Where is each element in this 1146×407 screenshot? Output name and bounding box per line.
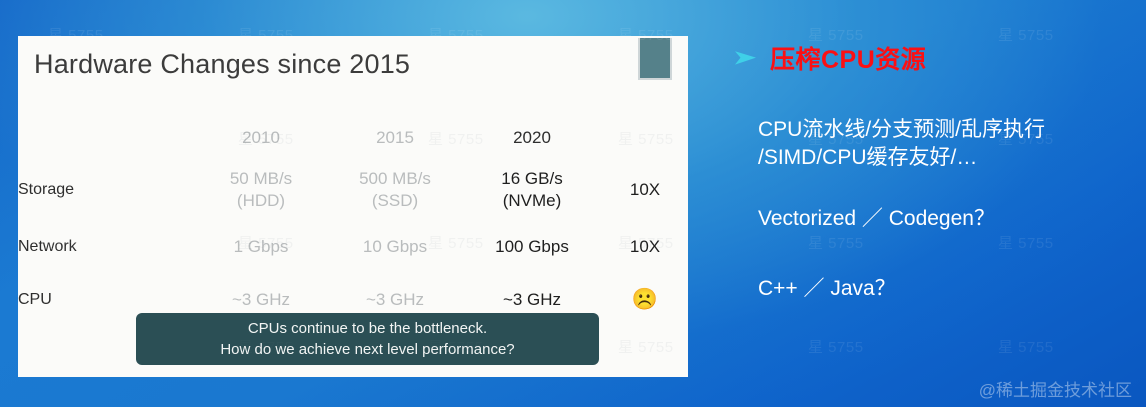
decorative-corner-block bbox=[638, 38, 672, 80]
row-label-storage: Storage bbox=[18, 160, 194, 220]
panel-paragraph-line-1: CPU流水线/分支预测/乱序执行 bbox=[758, 116, 1132, 144]
tiled-watermark: 星 5755 bbox=[808, 336, 864, 357]
cell-network-2010: 1 Gbps bbox=[194, 220, 328, 273]
cell-network-2015: 10 Gbps bbox=[328, 220, 462, 273]
cell-network-gain: 10X bbox=[602, 220, 688, 273]
cell-storage-2020: 16 GB/s (NVMe) bbox=[462, 160, 602, 220]
presentation-slide: Hardware Changes since 2015 2010 2015 20… bbox=[18, 36, 688, 377]
panel-heading-text: 压榨CPU资源 bbox=[770, 40, 926, 76]
column-header-gain bbox=[602, 116, 688, 160]
panel-paragraph: CPU流水线/分支预测/乱序执行 /SIMD/CPU缓存友好/… bbox=[728, 116, 1132, 172]
column-header-2020: 2020 bbox=[462, 116, 602, 160]
panel-heading: 压榨CPU资源 bbox=[734, 40, 1132, 76]
callout-line-1: CPUs continue to be the bottleneck. bbox=[248, 318, 487, 339]
column-header-2010: 2010 bbox=[194, 116, 328, 160]
cell-storage-gain: 10X bbox=[602, 160, 688, 220]
cell-subvalue: (NVMe) bbox=[462, 190, 602, 212]
page-title: Hardware Changes since 2015 bbox=[34, 49, 410, 80]
cell-storage-2015: 500 MB/s (SSD) bbox=[328, 160, 462, 220]
hardware-comparison-table: 2010 2015 2020 Storage 50 MB/s (HDD) 500… bbox=[18, 116, 688, 326]
column-header-category bbox=[18, 116, 194, 160]
site-watermark: @稀土掘金技术社区 bbox=[979, 376, 1132, 401]
panel-line-vectorized-codegen: Vectorized ／ Codegen？ bbox=[758, 205, 1132, 233]
cell-value: 500 MB/s bbox=[359, 169, 431, 188]
table-row: Storage 50 MB/s (HDD) 500 MB/s (SSD) 16 … bbox=[18, 160, 688, 220]
panel-paragraph-line-2: /SIMD/CPU缓存友好/… bbox=[758, 144, 1132, 172]
sad-face-icon: ☹️ bbox=[602, 273, 688, 326]
table-row: Network 1 Gbps 10 Gbps 100 Gbps 10X bbox=[18, 220, 688, 273]
annotation-panel: 压榨CPU资源 CPU流水线/分支预测/乱序执行 /SIMD/CPU缓存友好/…… bbox=[728, 40, 1132, 303]
tiled-watermark: 星 5755 bbox=[998, 336, 1054, 357]
callout-line-2: How do we achieve next level performance… bbox=[220, 339, 514, 360]
column-header-2015: 2015 bbox=[328, 116, 462, 160]
row-label-network: Network bbox=[18, 220, 194, 273]
cell-network-2020: 100 Gbps bbox=[462, 220, 602, 273]
screenshot-canvas: Hardware Changes since 2015 2010 2015 20… bbox=[0, 0, 1146, 407]
cell-storage-2010: 50 MB/s (HDD) bbox=[194, 160, 328, 220]
table-header-row: 2010 2015 2020 bbox=[18, 116, 688, 160]
cell-value: 50 MB/s bbox=[230, 169, 292, 188]
cell-subvalue: (HDD) bbox=[194, 190, 328, 212]
cell-value: 16 GB/s bbox=[501, 169, 562, 188]
panel-line-cpp-java: C++ ／ Java？ bbox=[758, 275, 1132, 303]
arrow-bullet-icon bbox=[734, 48, 758, 68]
callout-box: CPUs continue to be the bottleneck. How … bbox=[136, 313, 599, 365]
cell-subvalue: (SSD) bbox=[328, 190, 462, 212]
